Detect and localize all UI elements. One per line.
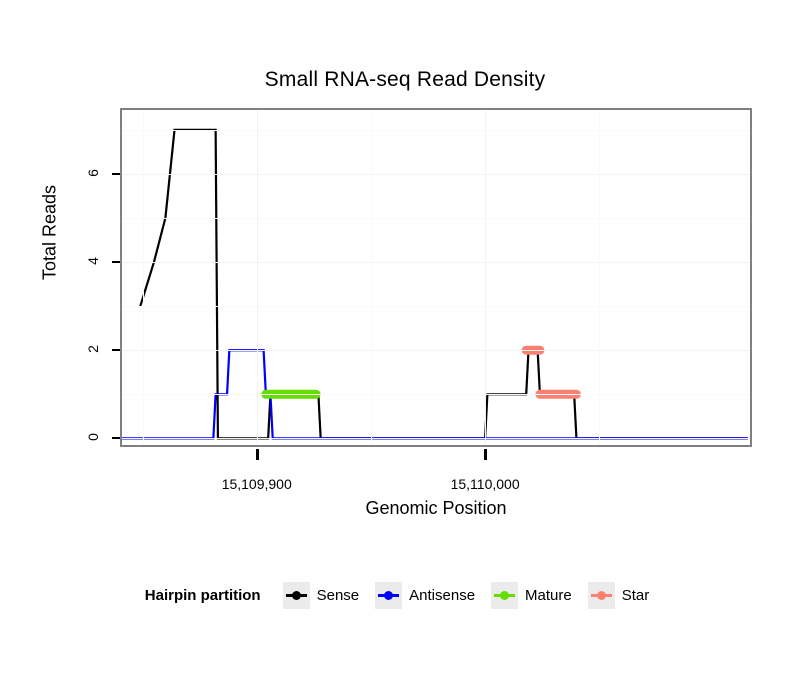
legend-item-antisense[interactable]: Antisense: [375, 582, 475, 609]
y-tick-label: 6: [85, 158, 101, 188]
legend-key-icon: [588, 582, 615, 609]
page-title: Small RNA-seq Read Density: [0, 68, 810, 92]
legend-item-mature[interactable]: Mature: [491, 582, 572, 609]
y-tick-mark: [112, 173, 120, 175]
gridline-y-major: [122, 174, 750, 175]
legend-items: SenseAntisenseMatureStar: [283, 582, 666, 609]
legend-item-label: Mature: [525, 587, 572, 604]
legend-key-icon: [375, 582, 402, 609]
series-line-sense: [140, 130, 747, 439]
x-tick-mark: [484, 449, 487, 460]
gridline-x-minor: [143, 110, 144, 445]
legend-dot-icon: [500, 591, 509, 600]
gridline-x-minor: [371, 110, 372, 445]
legend-item-label: Sense: [317, 587, 360, 604]
x-tick-mark: [256, 449, 259, 460]
legend-dot-icon: [597, 591, 606, 600]
y-axis-title: Total Reads: [40, 143, 61, 323]
gridline-y-major: [122, 262, 750, 263]
legend-dot-icon: [384, 591, 393, 600]
legend-item-label: Star: [622, 587, 650, 604]
x-axis-title: Genomic Position: [120, 498, 752, 519]
gridline-y-major: [122, 350, 750, 351]
x-tick-label: 15,109,900: [187, 476, 327, 492]
legend-item-star[interactable]: Star: [588, 582, 650, 609]
gridline-x-minor: [599, 110, 600, 445]
legend-key-icon: [491, 582, 518, 609]
legend-item-sense[interactable]: Sense: [283, 582, 360, 609]
gridline-y-minor: [122, 218, 750, 219]
y-tick-mark: [112, 261, 120, 263]
y-tick-label: 0: [85, 422, 101, 452]
gridline-x-major: [257, 110, 258, 445]
gridline-x-major: [485, 110, 486, 445]
plot-area: [122, 110, 750, 445]
plot-panel: [120, 108, 752, 447]
chart-canvas: Small RNA-seq Read Density Total Reads G…: [0, 0, 810, 690]
gridline-y-major: [122, 438, 750, 439]
legend-title: Hairpin partition: [145, 587, 261, 604]
legend-item-label: Antisense: [409, 587, 475, 604]
x-tick-label: 15,110,000: [415, 476, 555, 492]
legend-key-icon: [283, 582, 310, 609]
y-tick-label: 4: [85, 246, 101, 276]
gridline-y-minor: [122, 130, 750, 131]
legend-dot-icon: [292, 591, 301, 600]
y-tick-mark: [112, 349, 120, 351]
gridline-y-minor: [122, 394, 750, 395]
y-tick-mark: [112, 437, 120, 439]
legend: Hairpin partition SenseAntisenseMatureSt…: [0, 582, 810, 609]
y-tick-label: 2: [85, 334, 101, 364]
gridline-y-minor: [122, 306, 750, 307]
